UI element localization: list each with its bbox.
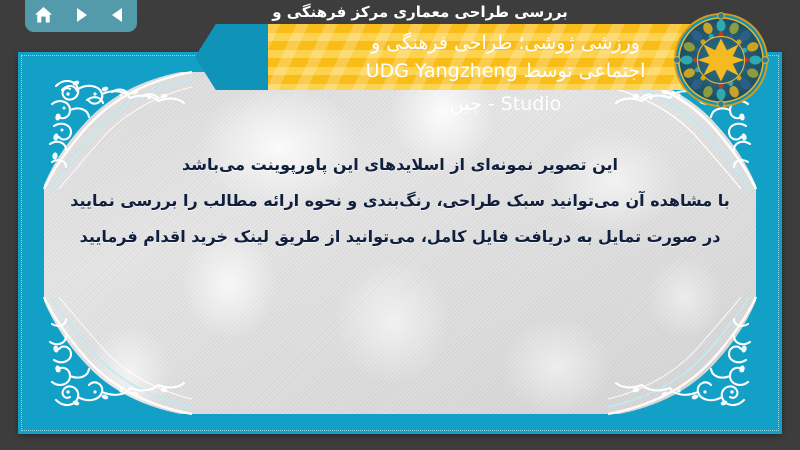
title-line-3: اجتماعی توسط UDG Yangzheng <box>366 57 646 85</box>
forward-button[interactable] <box>66 2 96 28</box>
home-icon <box>33 5 54 25</box>
arabesque-ornament-bottom-left <box>42 296 192 416</box>
slide-body-text: این تصویر نمونه‌ای از اسلایدهای این پاور… <box>58 147 742 255</box>
slide-viewer: بررسی طراحی معماری مرکز فرهنگی و ورزشی ژ… <box>0 0 800 450</box>
body-line-1: این تصویر نمونه‌ای از اسلایدهای این پاور… <box>58 147 742 183</box>
body-line-3: در صورت تمایل به دریافت فایل کامل، می‌تو… <box>58 219 742 255</box>
title-line-1: بررسی طراحی معماری مرکز فرهنگی و <box>232 0 568 24</box>
arabesque-ornament-bottom-right <box>608 296 758 416</box>
title-line-2: ورزشی ژوشی؛ طراحی فرهنگی و <box>371 29 640 57</box>
mandala-rosette-icon <box>672 8 770 112</box>
home-button[interactable] <box>29 2 59 28</box>
forward-arrow-icon <box>71 5 91 25</box>
navigation-bar <box>25 0 137 32</box>
back-arrow-icon <box>108 5 128 25</box>
back-button[interactable] <box>103 2 133 28</box>
body-line-2: با مشاهده آن می‌توانید سبک طراحی، رنگ‌بن… <box>58 183 742 219</box>
